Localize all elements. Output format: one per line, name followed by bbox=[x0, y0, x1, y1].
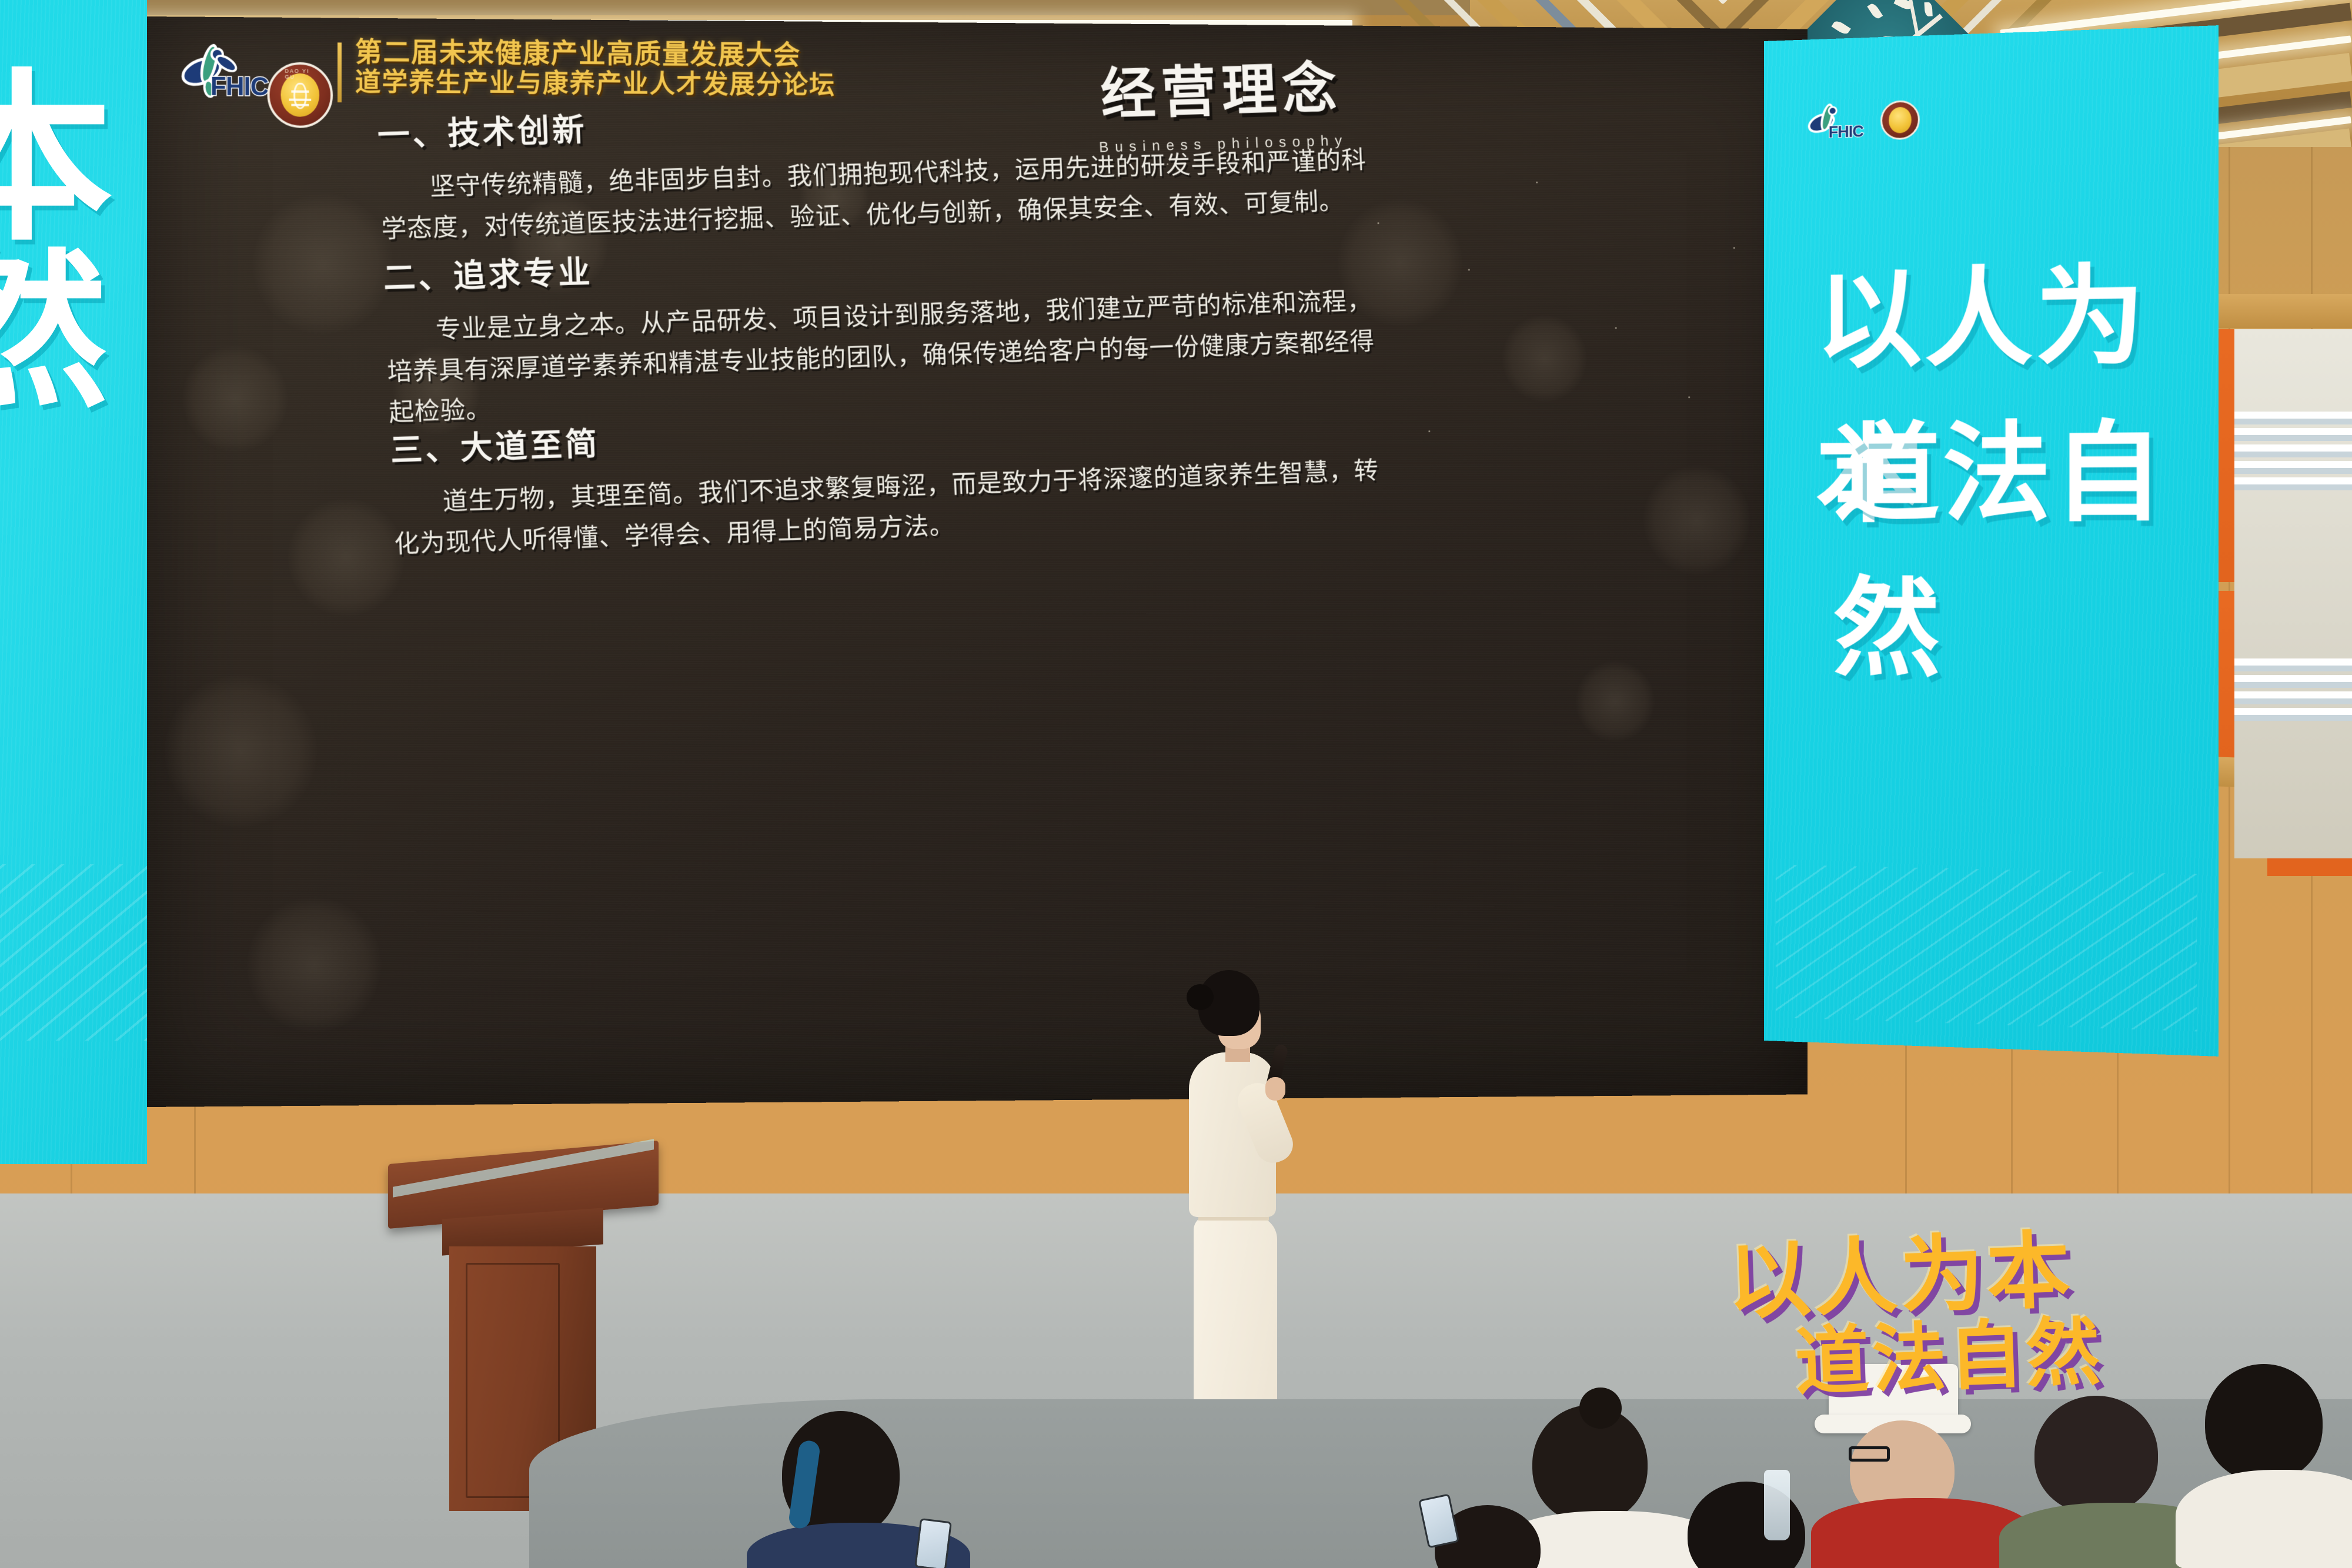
slide-section-1: 一、技术创新 坚守传统精髓，绝非固步自封。我们拥抱现代科技，运用先进的研发手段和… bbox=[376, 81, 1372, 250]
seal-inner-disc bbox=[1889, 107, 1912, 133]
eyeglasses-icon bbox=[1849, 1446, 1890, 1462]
right-panel-scratch-texture bbox=[1776, 864, 2197, 1031]
presenter-hair-bun bbox=[1187, 984, 1214, 1010]
left-banner-panel: 本 然 bbox=[0, 0, 147, 1164]
left-calligraphy-char-1: 本 bbox=[0, 75, 113, 243]
right-banner-panel: FHIC 以人为本 道法自然 bbox=[1764, 25, 2219, 1057]
window-nook bbox=[2234, 329, 2352, 858]
water-bottle bbox=[1764, 1470, 1790, 1540]
smartphone bbox=[914, 1518, 952, 1568]
conference-hall-scene: 本 然 bbox=[0, 0, 2352, 1568]
led-presentation-screen: FHIC DAO YI GU 第二届未来健康产业高质量发展大会 道学养生产业与康… bbox=[147, 16, 1808, 1107]
right-calligraphy-line-2: 道法自然 bbox=[1833, 383, 2219, 700]
daoyigu-seal-icon bbox=[1880, 100, 1920, 141]
right-panel-logos: FHIC bbox=[1810, 100, 1920, 142]
left-calligraphy-char-2: 然 bbox=[0, 253, 108, 410]
fhic-wordmark: FHIC bbox=[1829, 122, 1863, 142]
section-3-body: 道生万物，其理至简。我们不追求繁复晦涩，而是致力于将深邃的道家养生智慧，转化为现… bbox=[392, 451, 1384, 565]
fhic-logo-icon: FHIC bbox=[1810, 102, 1864, 142]
overlay-watermark: 以人为本 道法自然 bbox=[1726, 1218, 2331, 1403]
left-panel-scratch-texture bbox=[0, 864, 147, 1041]
slide-content: 经营理念 Business philosophy 一、技术创新 坚守传统精髓，绝… bbox=[147, 16, 1808, 1106]
presenter-hand bbox=[1265, 1077, 1285, 1101]
